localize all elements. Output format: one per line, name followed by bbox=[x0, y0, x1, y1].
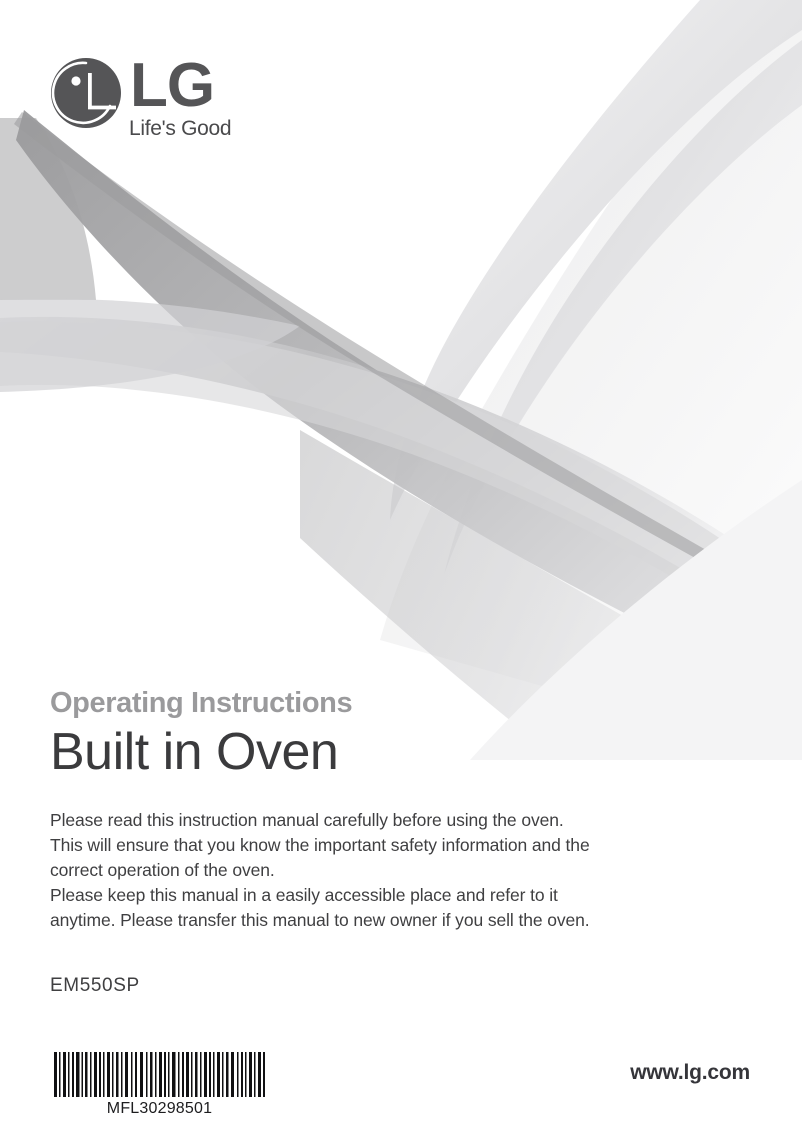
barcode-block: MFL30298501 bbox=[52, 1052, 267, 1118]
lg-wordmark: LG bbox=[130, 55, 214, 117]
intro-line: correct operation of the oven. bbox=[50, 858, 760, 883]
lg-smile-logo-icon bbox=[50, 57, 122, 129]
cover-title-block: Operating Instructions Built in Oven bbox=[50, 688, 770, 782]
intro-line: Please keep this manual in a easily acce… bbox=[50, 883, 760, 908]
intro-line: anytime. Please transfer this manual to … bbox=[50, 908, 760, 933]
document-kicker: Operating Instructions bbox=[50, 688, 770, 719]
barcode-label: MFL30298501 bbox=[52, 1100, 267, 1118]
intro-paragraph: Please read this instruction manual care… bbox=[50, 808, 760, 933]
lg-tagline: Life's Good bbox=[129, 117, 231, 141]
website-url: www.lg.com bbox=[630, 1061, 750, 1085]
intro-line: This will ensure that you know the impor… bbox=[50, 833, 760, 858]
page-title: Built in Oven bbox=[50, 723, 770, 781]
barcode-icon bbox=[52, 1052, 267, 1097]
intro-line: Please read this instruction manual care… bbox=[50, 808, 760, 833]
document-page: LG Life's Good Operating Instructions Bu… bbox=[0, 0, 802, 1138]
model-number: EM550SP bbox=[50, 975, 140, 997]
